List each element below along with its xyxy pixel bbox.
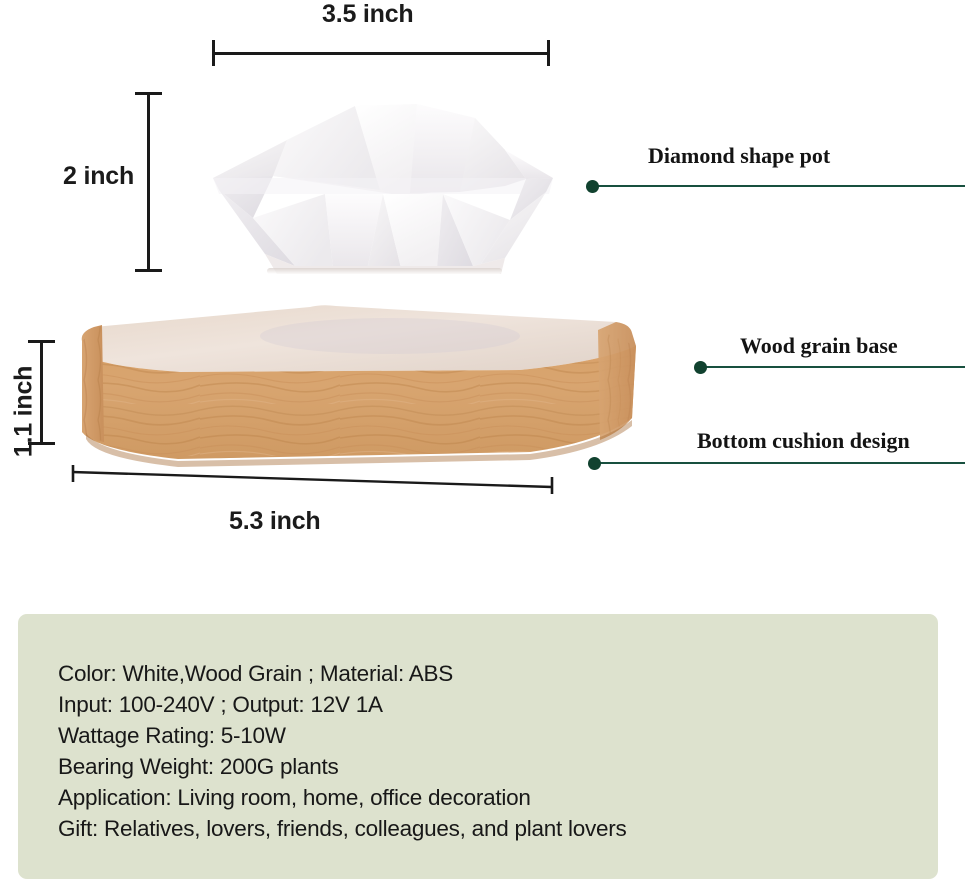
callout-label-diamond-shape-pot: Diamond shape pot: [648, 143, 830, 169]
product-diagram: 3.5 inch 2 inch 1.1 inch 5.3 inch Diamon…: [0, 0, 973, 879]
callout-dot-wood-grain-base: [694, 361, 707, 374]
callout-dot-bottom-cushion-design: [588, 457, 601, 470]
callout-line-bottom-cushion-design: [598, 462, 965, 464]
dimension-cap-pot-width-right: [547, 40, 550, 66]
dimension-cap-pot-height-top: [135, 92, 162, 95]
spec-line-application: Application: Living room, home, office d…: [58, 782, 938, 813]
callout-line-diamond-shape-pot: [596, 185, 965, 187]
callout-line-wood-grain-base: [704, 366, 965, 368]
spec-line-input-output: Input: 100-240V ; Output: 12V 1A: [58, 689, 938, 720]
dimension-line-pot-height: [147, 92, 150, 272]
dimension-line-base-height: [40, 340, 43, 445]
dimension-label-pot-width: 3.5 inch: [322, 0, 414, 29]
dimension-cap-pot-height-bottom: [135, 269, 162, 272]
spec-line-color-material: Color: White,Wood Grain ; Material: ABS: [58, 658, 938, 689]
dimension-cap-pot-width-left: [212, 40, 215, 66]
spec-line-bearing-weight: Bearing Weight: 200G plants: [58, 751, 938, 782]
callout-label-wood-grain-base: Wood grain base: [740, 333, 898, 359]
dimension-cap-base-height-bottom: [28, 442, 55, 445]
callout-dot-diamond-shape-pot: [586, 180, 599, 193]
dimension-line-pot-width: [212, 52, 550, 55]
spec-line-gift: Gift: Relatives, lovers, friends, collea…: [58, 813, 938, 844]
specification-panel: Color: White,Wood Grain ; Material: ABS …: [18, 614, 938, 879]
diamond-shape-pot: [205, 78, 560, 283]
spec-line-wattage-rating: Wattage Rating: 5-10W: [58, 720, 938, 751]
callout-label-bottom-cushion-design: Bottom cushion design: [697, 428, 910, 454]
dimension-line-base-width: [68, 463, 558, 495]
dimension-label-base-width: 5.3 inch: [229, 507, 321, 536]
dimension-cap-base-height-top: [28, 340, 55, 343]
dimension-label-pot-height: 2 inch: [63, 162, 134, 191]
